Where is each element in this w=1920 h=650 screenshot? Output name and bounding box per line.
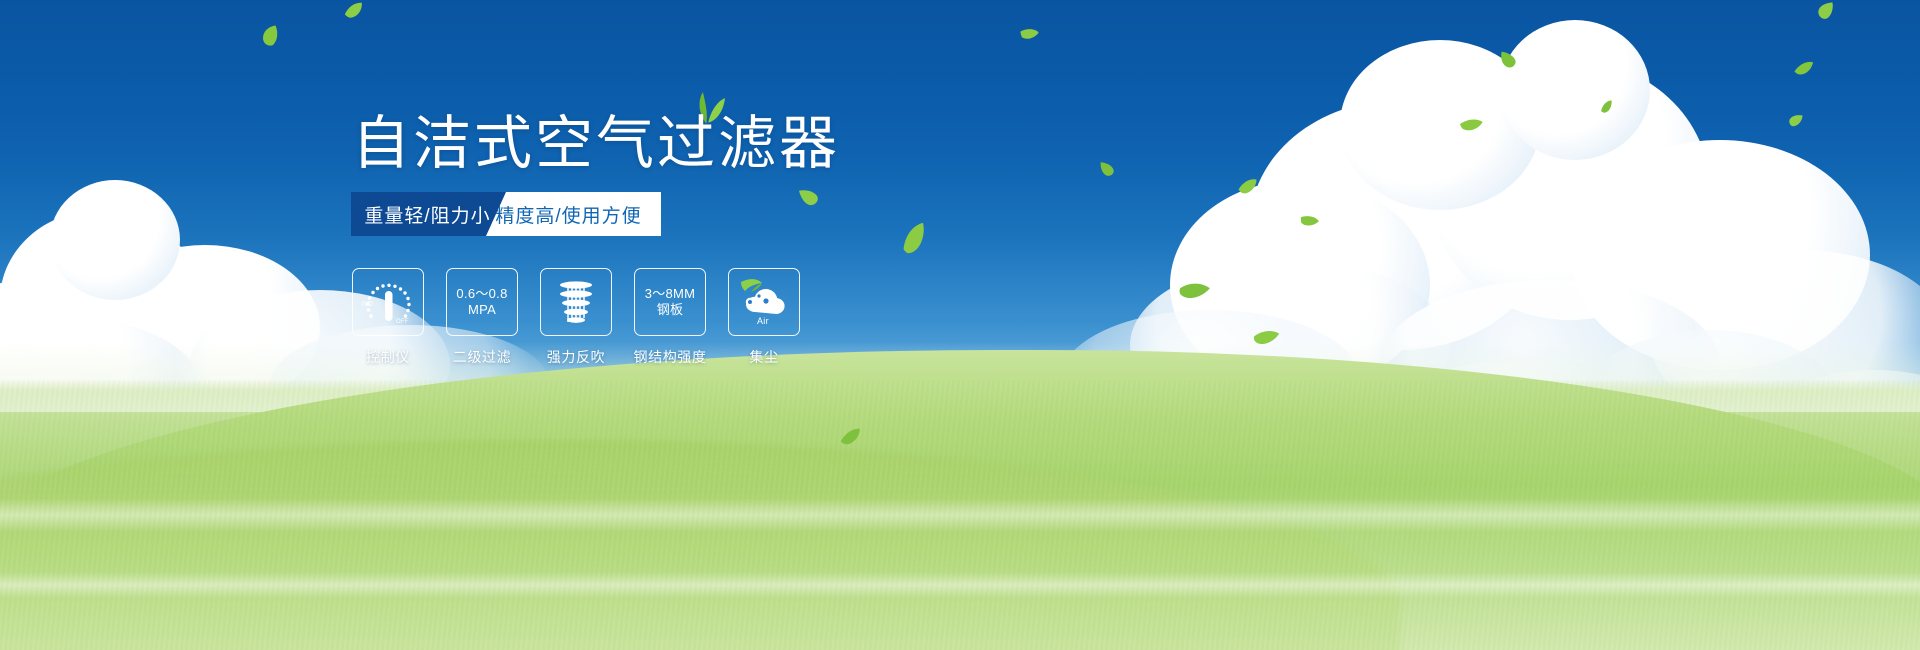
air-blowback-coil-icon	[540, 268, 612, 336]
feature-item-secondary-filtration[interactable]: 0.6～0.8 MPA 二级过滤	[446, 268, 518, 367]
feature-item-strong-blowback[interactable]: 强力反吹	[540, 268, 612, 367]
cloud-air-caption: Air	[757, 316, 769, 326]
feature-label: 钢结构强度	[634, 347, 707, 367]
svg-text:OFF: OFF	[396, 319, 409, 325]
dust-cloud-icon: Air	[728, 268, 800, 336]
steel-thickness-value: 3～8MM	[645, 286, 696, 302]
feature-label: 控制仪	[366, 347, 410, 367]
banner-content: 自洁式空气过滤器 重量轻/阻力小 精度高/使用方便	[0, 0, 1920, 650]
feature-item-dust-collection[interactable]: Air 集尘	[728, 268, 800, 367]
pressure-range-value: 0.6～0.8	[456, 286, 507, 302]
feature-item-control-instrument[interactable]: NO OFF 控制仪	[352, 268, 424, 367]
tab-lightweight-low-resistance[interactable]: 重量轻/阻力小	[351, 192, 506, 236]
feature-item-steel-structure-strength[interactable]: 3～8MM 钢板 钢结构强度	[634, 268, 706, 367]
steel-plate-label: 钢板	[657, 302, 684, 318]
feature-icon-row: NO OFF 控制仪 0.6～0.8 MPA 二级过滤	[352, 268, 800, 367]
feature-label: 强力反吹	[547, 347, 605, 367]
page-title: 自洁式空气过滤器	[352, 112, 840, 176]
steel-plate-text-icon: 3～8MM 钢板	[634, 268, 706, 336]
pressure-unit: MPA	[468, 302, 496, 318]
tab-high-precision-easy-use[interactable]: 精度高/使用方便	[486, 192, 661, 236]
control-dial-icon: NO OFF	[352, 268, 424, 336]
pressure-text-icon: 0.6～0.8 MPA	[446, 268, 518, 336]
feature-label: 二级过滤	[453, 347, 511, 367]
svg-text:NO: NO	[362, 301, 373, 308]
feature-tab-bar: 重量轻/阻力小 精度高/使用方便	[351, 192, 661, 236]
hero-banner: 自洁式空气过滤器 重量轻/阻力小 精度高/使用方便	[0, 0, 1920, 650]
feature-label: 集尘	[749, 347, 778, 367]
